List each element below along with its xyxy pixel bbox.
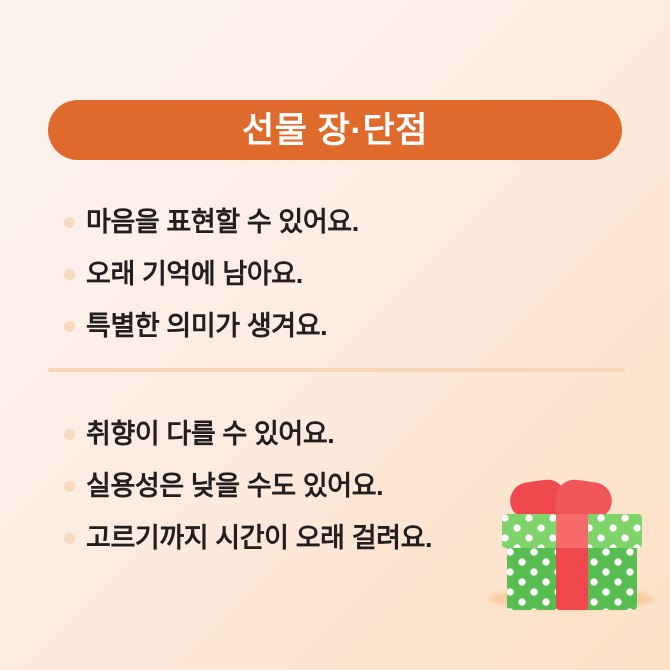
list-item: 마음을 표현할 수 있어요. — [64, 196, 624, 248]
list-item-label: 특별한 의미가 생겨요. — [86, 313, 327, 340]
infographic-card: 선물 장·단점 마음을 표현할 수 있어요. 오래 기억에 남아요. 특별한 의… — [0, 0, 670, 670]
list-item-label: 고르기까지 시간이 오래 걸려요. — [86, 525, 432, 552]
gift-ribbon-upper — [556, 514, 588, 548]
bullet-dot-icon — [64, 429, 75, 440]
bullet-dot-icon — [64, 217, 75, 228]
gift-box-icon — [480, 478, 660, 618]
bullet-dot-icon — [64, 533, 75, 544]
pros-list: 마음을 표현할 수 있어요. 오래 기억에 남아요. 특별한 의미가 생겨요. — [64, 196, 624, 352]
list-item: 특별한 의미가 생겨요. — [64, 300, 624, 352]
bullet-dot-icon — [64, 321, 75, 332]
section-divider — [48, 368, 625, 372]
list-item: 취향이 다를 수 있어요. — [64, 408, 624, 460]
list-item: 오래 기억에 남아요. — [64, 248, 624, 300]
bullet-dot-icon — [64, 481, 75, 492]
bullet-dot-icon — [64, 269, 75, 280]
title-banner: 선물 장·단점 — [48, 100, 622, 160]
list-item-label: 실용성은 낮을 수도 있어요. — [86, 473, 383, 500]
list-item-label: 취향이 다를 수 있어요. — [86, 421, 334, 448]
page-title: 선물 장·단점 — [242, 113, 428, 148]
list-item-label: 마음을 표현할 수 있어요. — [86, 209, 359, 236]
list-item-label: 오래 기억에 남아요. — [86, 261, 303, 288]
gift-ribbon-lower — [556, 548, 588, 610]
